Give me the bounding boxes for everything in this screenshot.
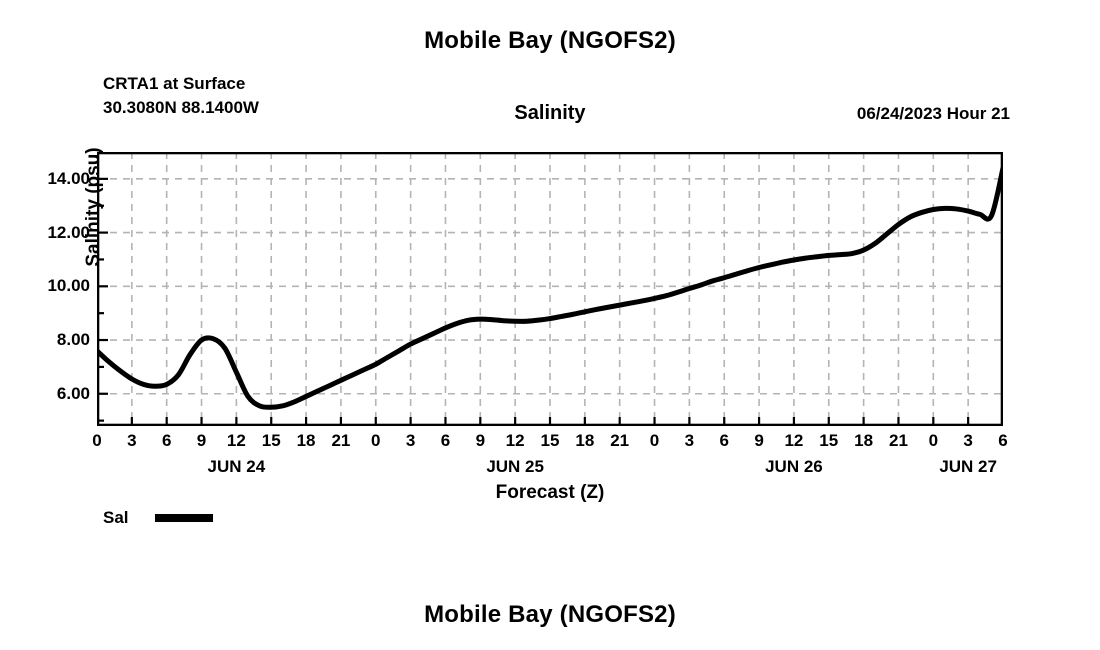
x-axis-tick-labels: 036912151821036912151821036912151821036 [97,432,1003,458]
salinity-line-chart [97,152,1003,426]
footer-title: Mobile Bay (NGOFS2) [0,601,1100,629]
x-axis-day-labels: JUN 24JUN 25JUN 26JUN 27 [97,458,1003,484]
y-axis-tick-label: 12.00 [18,224,90,241]
y-axis-tick-labels: 6.008.0010.0012.0014.00 [12,152,90,426]
x-axis-day-label: JUN 27 [908,458,1028,475]
x-axis-day-label: JUN 25 [455,458,575,475]
y-axis-tick-label: 6.00 [18,385,90,402]
chart-legend: Sal [103,508,213,528]
x-axis-title: Forecast (Z) [0,482,1100,504]
legend-line-swatch [155,514,213,522]
forecast-timestamp: 06/24/2023 Hour 21 [857,104,1010,124]
page-title: Mobile Bay (NGOFS2) [0,27,1100,55]
y-axis-tick-label: 8.00 [18,331,90,348]
chart-plot-area [97,152,1003,426]
x-axis-day-label: JUN 24 [176,458,296,475]
station-name: CRTA1 at Surface [103,72,259,96]
x-axis-day-label: JUN 26 [734,458,854,475]
y-axis-tick-label: 14.00 [18,170,90,187]
y-axis-tick-label: 10.00 [18,277,90,294]
legend-item-label: Sal [103,508,129,528]
x-axis-tick-label: 6 [983,432,1023,449]
